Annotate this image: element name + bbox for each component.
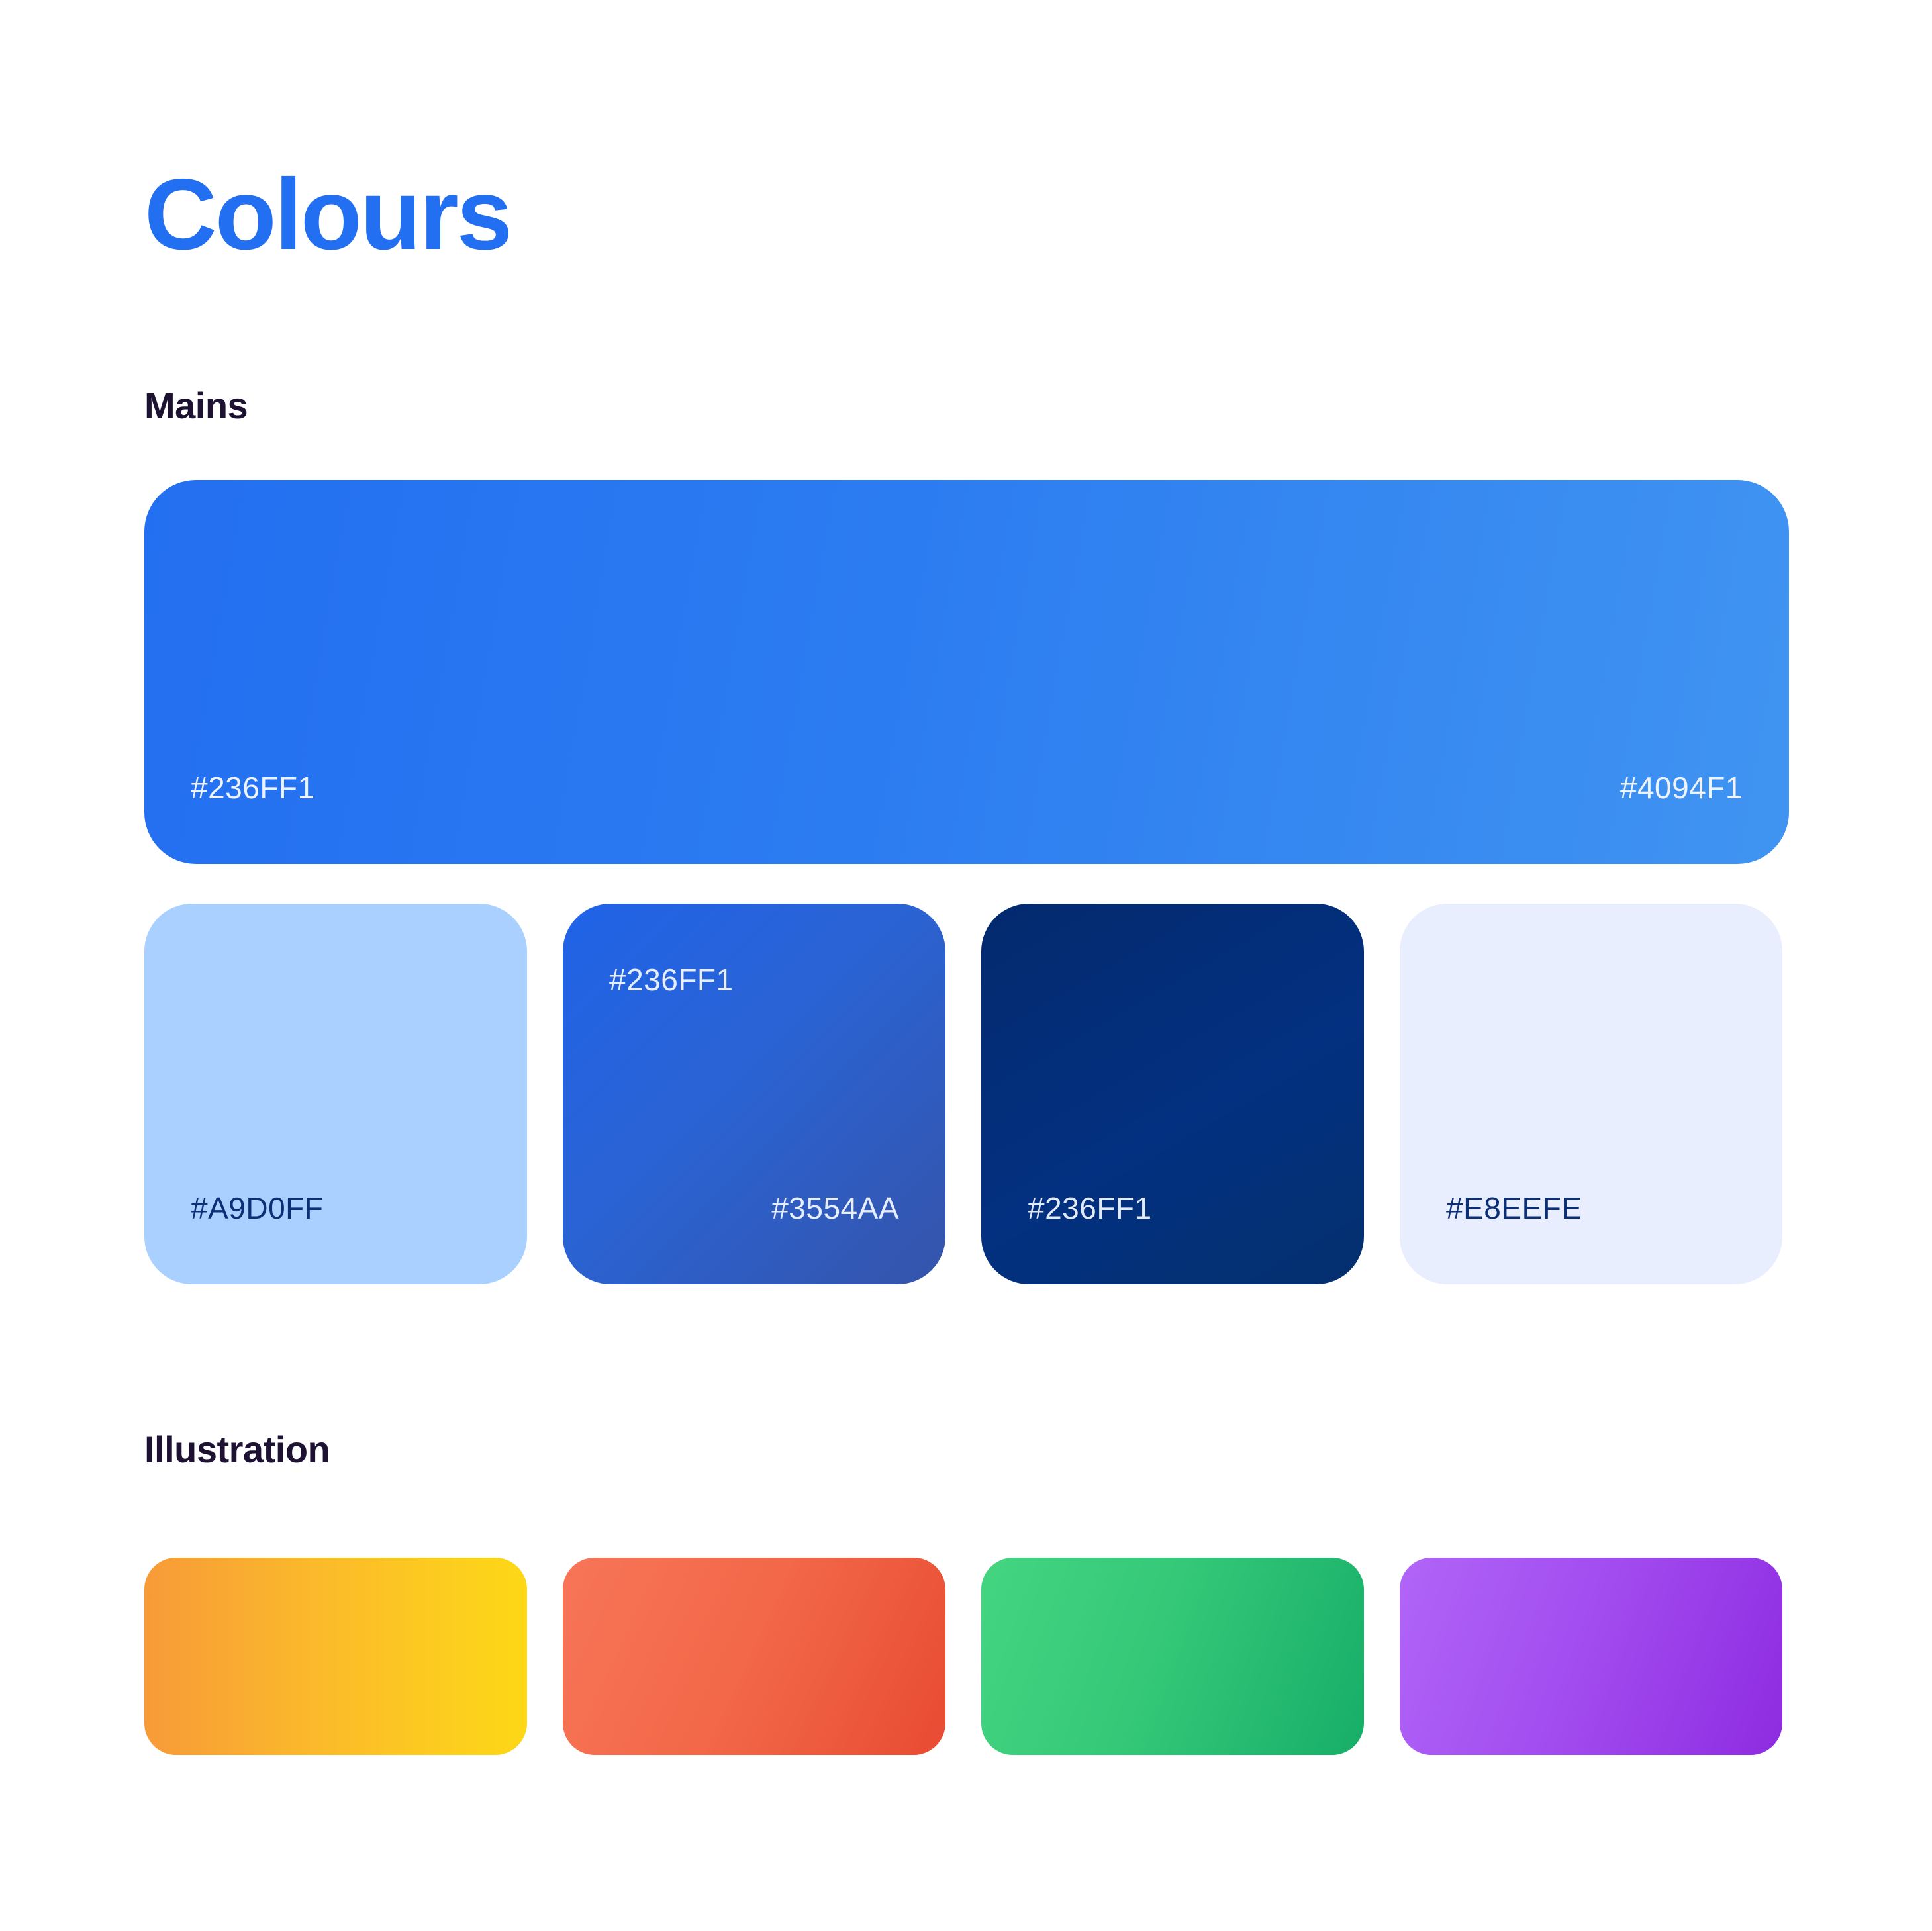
swatch-light-blue[interactable]: #A9D0FF <box>144 904 527 1284</box>
colour-palette-page: Colours Mains #236FF1 #4094F1 #A9D0FF #2… <box>0 0 1932 1931</box>
illustration-green[interactable] <box>981 1558 1364 1755</box>
swatch-blue-gradient-hex-top: #236FF1 <box>609 965 734 995</box>
swatch-pale-blue-hex: #E8EEFE <box>1446 1193 1582 1223</box>
section-heading-illustration: Illustration <box>144 1431 330 1468</box>
swatch-pale-blue[interactable]: #E8EEFE <box>1400 904 1782 1284</box>
illustration-purple[interactable] <box>1400 1558 1782 1755</box>
page-title: Colours <box>144 164 510 265</box>
banner-hex-right: #4094F1 <box>1620 773 1743 803</box>
illustration-coral-red[interactable] <box>563 1558 945 1755</box>
section-heading-mains: Mains <box>144 387 248 424</box>
banner-hex-left: #236FF1 <box>191 773 315 803</box>
swatch-navy[interactable]: #236FF1 <box>981 904 1364 1284</box>
swatch-blue-gradient-hex-bottom: #3554AA <box>771 1193 899 1223</box>
swatch-light-blue-hex: #A9D0FF <box>191 1193 323 1223</box>
swatch-blue-gradient[interactable]: #236FF1 #3554AA <box>563 904 945 1284</box>
primary-gradient-banner[interactable]: #236FF1 #4094F1 <box>144 480 1789 864</box>
swatch-navy-hex: #236FF1 <box>1028 1193 1152 1223</box>
illustration-orange-yellow[interactable] <box>144 1558 527 1755</box>
